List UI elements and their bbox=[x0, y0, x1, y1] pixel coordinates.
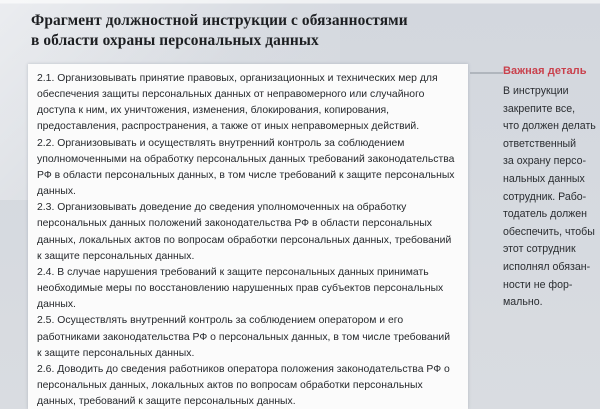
callout-body-line: за охрану персо- bbox=[503, 153, 595, 171]
clause-item: 2.2. Организовывать и осуществлять внутр… bbox=[37, 136, 457, 201]
callout-heading: Важная деталь bbox=[503, 63, 595, 80]
clause-item: 2.1. Организовывать принятие правовых, о… bbox=[37, 71, 457, 136]
callout-body-line: этот сотрудник bbox=[503, 241, 595, 259]
callout-body: В инструкции закрепите все, что должен д… bbox=[503, 83, 595, 312]
callout-body-line: обеспечить, чтобы bbox=[503, 224, 595, 242]
page-title-line-1: Фрагмент должностной инструкции с обязан… bbox=[31, 11, 461, 31]
callout-body-line: В инструкции bbox=[503, 83, 595, 101]
clause-item: 2.5. Осуществлять внутренний контроль за… bbox=[37, 313, 457, 361]
callout-body-line: ности не фор- bbox=[503, 277, 595, 295]
clause-item: 2.6. Доводить до сведения работников опе… bbox=[37, 362, 457, 409]
callout-body-line: тодатель должен bbox=[503, 206, 595, 224]
callout-body-line: ответственный bbox=[503, 136, 595, 154]
clause-item: 2.4. В случае нарушения требований к защ… bbox=[37, 265, 457, 313]
page-root: Фрагмент должностной инструкции с обязан… bbox=[0, 0, 600, 409]
callout-leader-line bbox=[470, 72, 503, 74]
callout-note: Важная деталь В инструкции закрепите все… bbox=[503, 63, 595, 312]
document-card: 2.1. Организовывать принятие правовых, о… bbox=[28, 64, 468, 409]
callout-body-line: закрепите все, bbox=[503, 101, 595, 119]
callout-body-line: нальных данных bbox=[503, 171, 595, 189]
callout-body-line: исполнял обязан- bbox=[503, 259, 595, 277]
callout-body-line: что должен делать bbox=[503, 118, 595, 136]
clause-item: 2.3. Организовывать доведение до сведени… bbox=[37, 200, 457, 265]
document-clause-list: 2.1. Организовывать принятие правовых, о… bbox=[37, 71, 457, 409]
page-title: Фрагмент должностной инструкции с обязан… bbox=[31, 11, 461, 51]
callout-body-line: мально. bbox=[503, 294, 595, 312]
page-title-line-2: в области охраны персональных данных bbox=[31, 31, 461, 51]
callout-body-line: сотрудник. Рабо- bbox=[503, 189, 595, 207]
